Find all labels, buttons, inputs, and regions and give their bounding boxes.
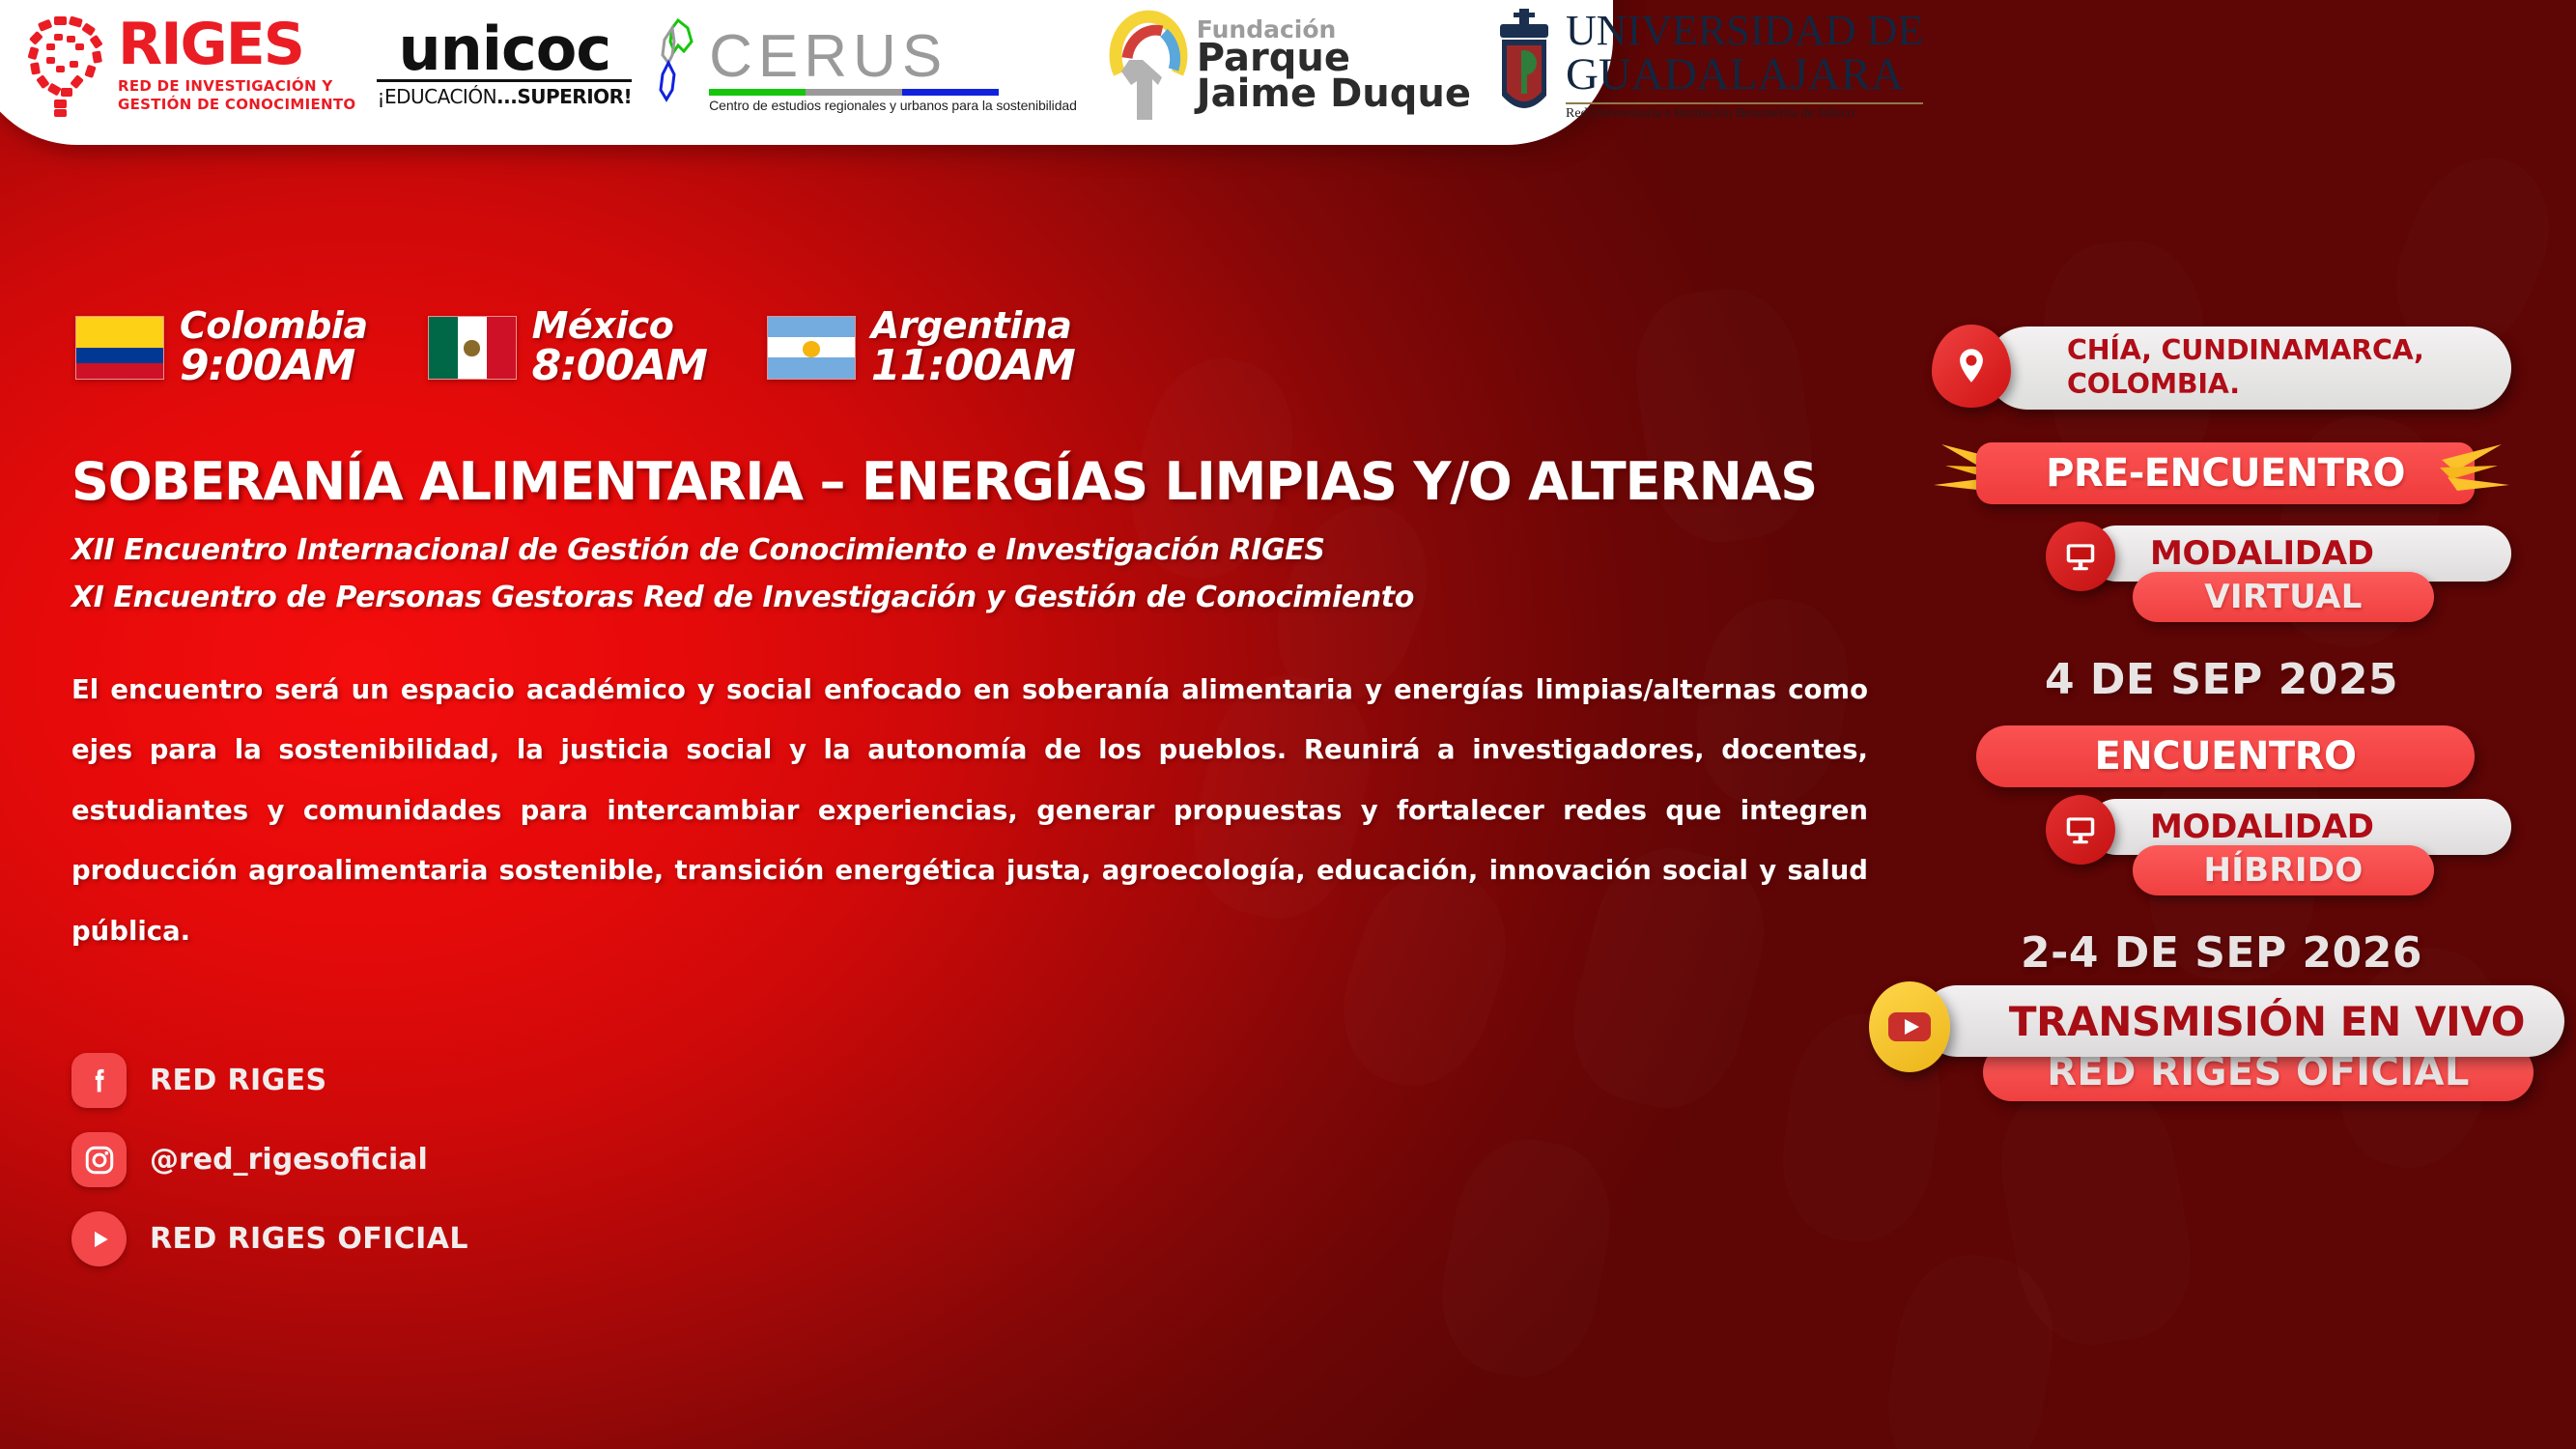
timezone-time-label: 9:00AM	[180, 345, 368, 388]
live-title: TRANSMISIÓN EN VIVO	[2009, 998, 2525, 1045]
timezone-time-label: 8:00AM	[532, 345, 707, 388]
logo-parque-jaime-duque: Fundación Parque Jaime Duque	[1102, 6, 1471, 124]
modality-virtual-group: MODALIDAD VIRTUAL	[1932, 518, 2511, 630]
social-label: RED RIGES OFICIAL	[150, 1222, 468, 1256]
modality-value: HÍBRIDO	[2203, 851, 2363, 890]
social-item-instagram[interactable]: @red_rigesoficial	[71, 1132, 468, 1187]
location-row: CHÍA, CUNDINAMARCA, COLOMBIA.	[1932, 319, 2511, 413]
udg-line2: GUADALAJARA	[1566, 52, 1923, 98]
graduation-cap-icon	[469, 0, 508, 6]
unicoc-tagline-part2: ...SUPERIOR!	[496, 85, 632, 108]
colombia-flag-icon	[75, 316, 164, 380]
logo-universidad-guadalajara: UNIVERSIDAD DE GUADALAJARA Red Universit…	[1492, 7, 1923, 123]
location-pin-icon	[1932, 325, 2011, 408]
udg-shield-icon	[1492, 7, 1556, 123]
cerus-map-icon	[649, 16, 703, 105]
subtitle-line-2: XI Encuentro de Personas Gestoras Red de…	[71, 581, 1907, 614]
youtube-icon	[71, 1211, 127, 1266]
instagram-icon	[71, 1132, 127, 1187]
monitor-icon	[2046, 795, 2115, 865]
pjd-line2: Parque	[1197, 41, 1471, 76]
description-highlight: soberanía alimentaria y energías limpias…	[1022, 674, 1776, 705]
poster-canvas: RIGES RED DE INVESTIGACIÓN Y GESTIÓN DE …	[0, 0, 2576, 1449]
modality-value-pill: HÍBRIDO	[2133, 845, 2434, 895]
modality-value-pill: VIRTUAL	[2133, 572, 2434, 622]
riges-name: RIGES	[118, 15, 355, 73]
badge-encuentro: ENCUENTRO	[1976, 725, 2475, 787]
page-title: SOBERANÍA ALIMENTARIA – ENERGÍAS LIMPIAS…	[71, 456, 1907, 508]
riges-tagline-line2: GESTIÓN DE CONOCIMIENTO	[118, 96, 355, 114]
udg-divider	[1566, 102, 1923, 104]
social-label: @red_rigesoficial	[150, 1143, 428, 1177]
social-links: RED RIGES @red_rigesoficial RED RIGES OF…	[71, 1053, 468, 1291]
description-part-1: El encuentro será un espacio académico y…	[71, 674, 1022, 705]
riges-mark-icon	[25, 13, 110, 117]
cerus-colorbar	[709, 89, 999, 96]
cerus-tagline: Centro de estudios regionales y urbanos …	[709, 98, 1077, 113]
sponsor-logo-bar: RIGES RED DE INVESTIGACIÓN Y GESTIÓN DE …	[0, 0, 1613, 145]
pjd-line3: Jaime Duque	[1197, 76, 1471, 112]
live-broadcast-block[interactable]: TRANSMISIÓN EN VIVO RED RIGES OFICIAL	[1869, 976, 2564, 1121]
timezone-time-label: 11:00AM	[871, 345, 1075, 388]
social-label: RED RIGES	[150, 1064, 327, 1097]
logo-cerus: CERUS Centro de estudios regionales y ur…	[649, 16, 1077, 113]
right-arrow-accent-icon	[2395, 439, 2511, 512]
timezone-country-label: Argentina	[871, 307, 1075, 345]
description-paragraph: El encuentro será un espacio académico y…	[71, 660, 1868, 961]
unicoc-tagline-part1: ¡EDUCACIÓN	[377, 85, 496, 108]
udg-line1: UNIVERSIDAD DE	[1566, 10, 1923, 52]
timezone-mexico: México 8:00AM	[428, 307, 707, 388]
timezone-country-label: México	[532, 307, 707, 345]
cerus-name: CERUS	[709, 27, 1077, 87]
location-text: CHÍA, CUNDINAMARCA, COLOMBIA.	[2067, 334, 2490, 402]
youtube-play-icon	[1869, 981, 1950, 1072]
mexico-flag-icon	[428, 316, 517, 380]
logo-unicoc: unicoc ¡EDUCACIÓN...SUPERIOR!	[377, 21, 632, 109]
description-part-2: como ejes para la sostenibilidad, la jus…	[71, 674, 1868, 947]
hand-arc-icon	[1102, 6, 1195, 124]
live-title-bar: TRANSMISIÓN EN VIVO	[1921, 985, 2564, 1057]
modality-hibrido-group: MODALIDAD HÍBRIDO	[1932, 791, 2511, 903]
event-date-encuentro: 2-4 DE SEP 2026	[1932, 928, 2511, 978]
unicoc-name: unicoc	[398, 21, 610, 78]
unicoc-tagline: ¡EDUCACIÓN...SUPERIOR!	[377, 85, 632, 108]
timezone-argentina: Argentina 11:00AM	[767, 307, 1075, 388]
monitor-icon	[2046, 522, 2115, 591]
modality-label: MODALIDAD	[2150, 534, 2374, 573]
facebook-icon	[71, 1053, 127, 1108]
badge-pre-encuentro: PRE-ENCUENTRO	[1932, 439, 2511, 512]
argentina-flag-icon	[767, 316, 856, 380]
badge-label: PRE-ENCUENTRO	[2046, 451, 2405, 496]
logo-riges: RIGES RED DE INVESTIGACIÓN Y GESTIÓN DE …	[25, 13, 355, 117]
modality-value: VIRTUAL	[2204, 578, 2362, 616]
udg-tagline: Red Universitaria e Institución Beneméri…	[1566, 107, 1923, 121]
event-date-pre-encuentro: 4 DE SEP 2025	[1932, 655, 2511, 704]
riges-tagline-line1: RED DE INVESTIGACIÓN Y	[118, 77, 355, 96]
social-item-youtube[interactable]: RED RIGES OFICIAL	[71, 1211, 468, 1266]
location-pill: CHÍA, CUNDINAMARCA, COLOMBIA.	[1986, 327, 2511, 410]
modality-label: MODALIDAD	[2150, 808, 2374, 846]
subtitle-line-1: XII Encuentro Internacional de Gestión d…	[71, 533, 1907, 567]
timezone-country-label: Colombia	[180, 307, 368, 345]
event-details-panel: CHÍA, CUNDINAMARCA, COLOMBIA. PRE-ENCUEN…	[1932, 319, 2511, 999]
timezone-colombia: Colombia 9:00AM	[75, 307, 368, 388]
badge-label: ENCUENTRO	[2094, 734, 2356, 779]
timezone-row: Colombia 9:00AM México 8:00AM	[75, 307, 1135, 388]
social-item-facebook[interactable]: RED RIGES	[71, 1053, 468, 1108]
